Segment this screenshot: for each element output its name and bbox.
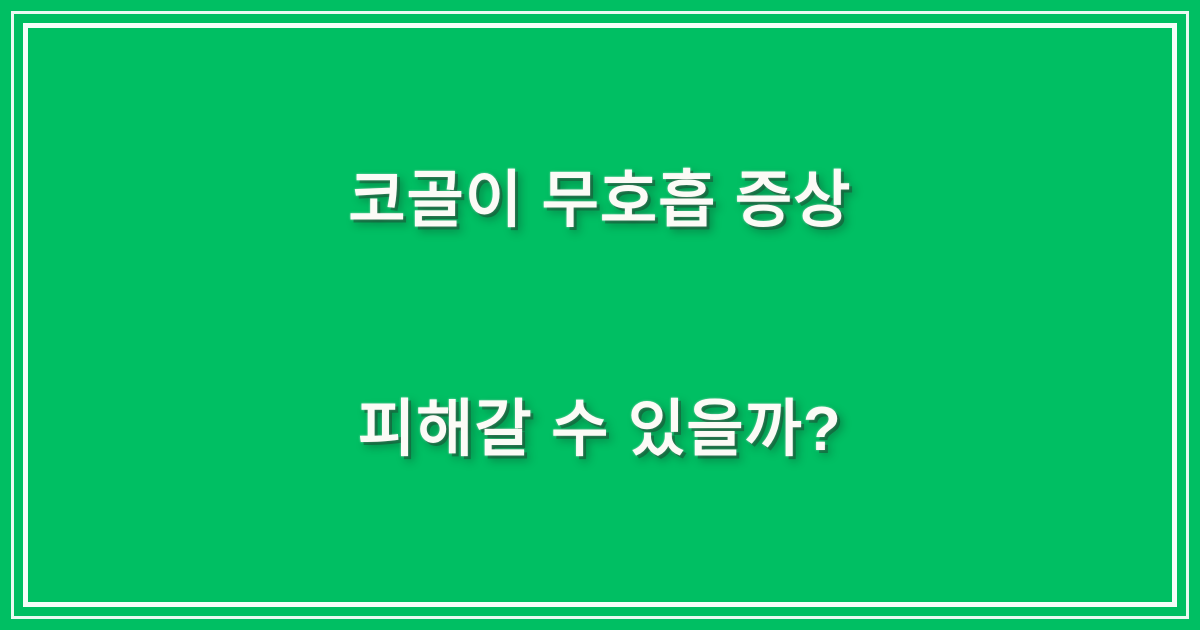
- title-block: 코골이 무호흡 증상 피해갈 수 있을까?: [0, 0, 1200, 630]
- title-line-1: 코골이 무호흡 증상: [348, 163, 851, 239]
- title-line-2: 피해갈 수 있을까?: [348, 392, 851, 468]
- page-title: 코골이 무호흡 증상 피해갈 수 있을까?: [288, 12, 911, 619]
- thumbnail-canvas: 코골이 무호흡 증상 피해갈 수 있을까?: [0, 0, 1200, 630]
